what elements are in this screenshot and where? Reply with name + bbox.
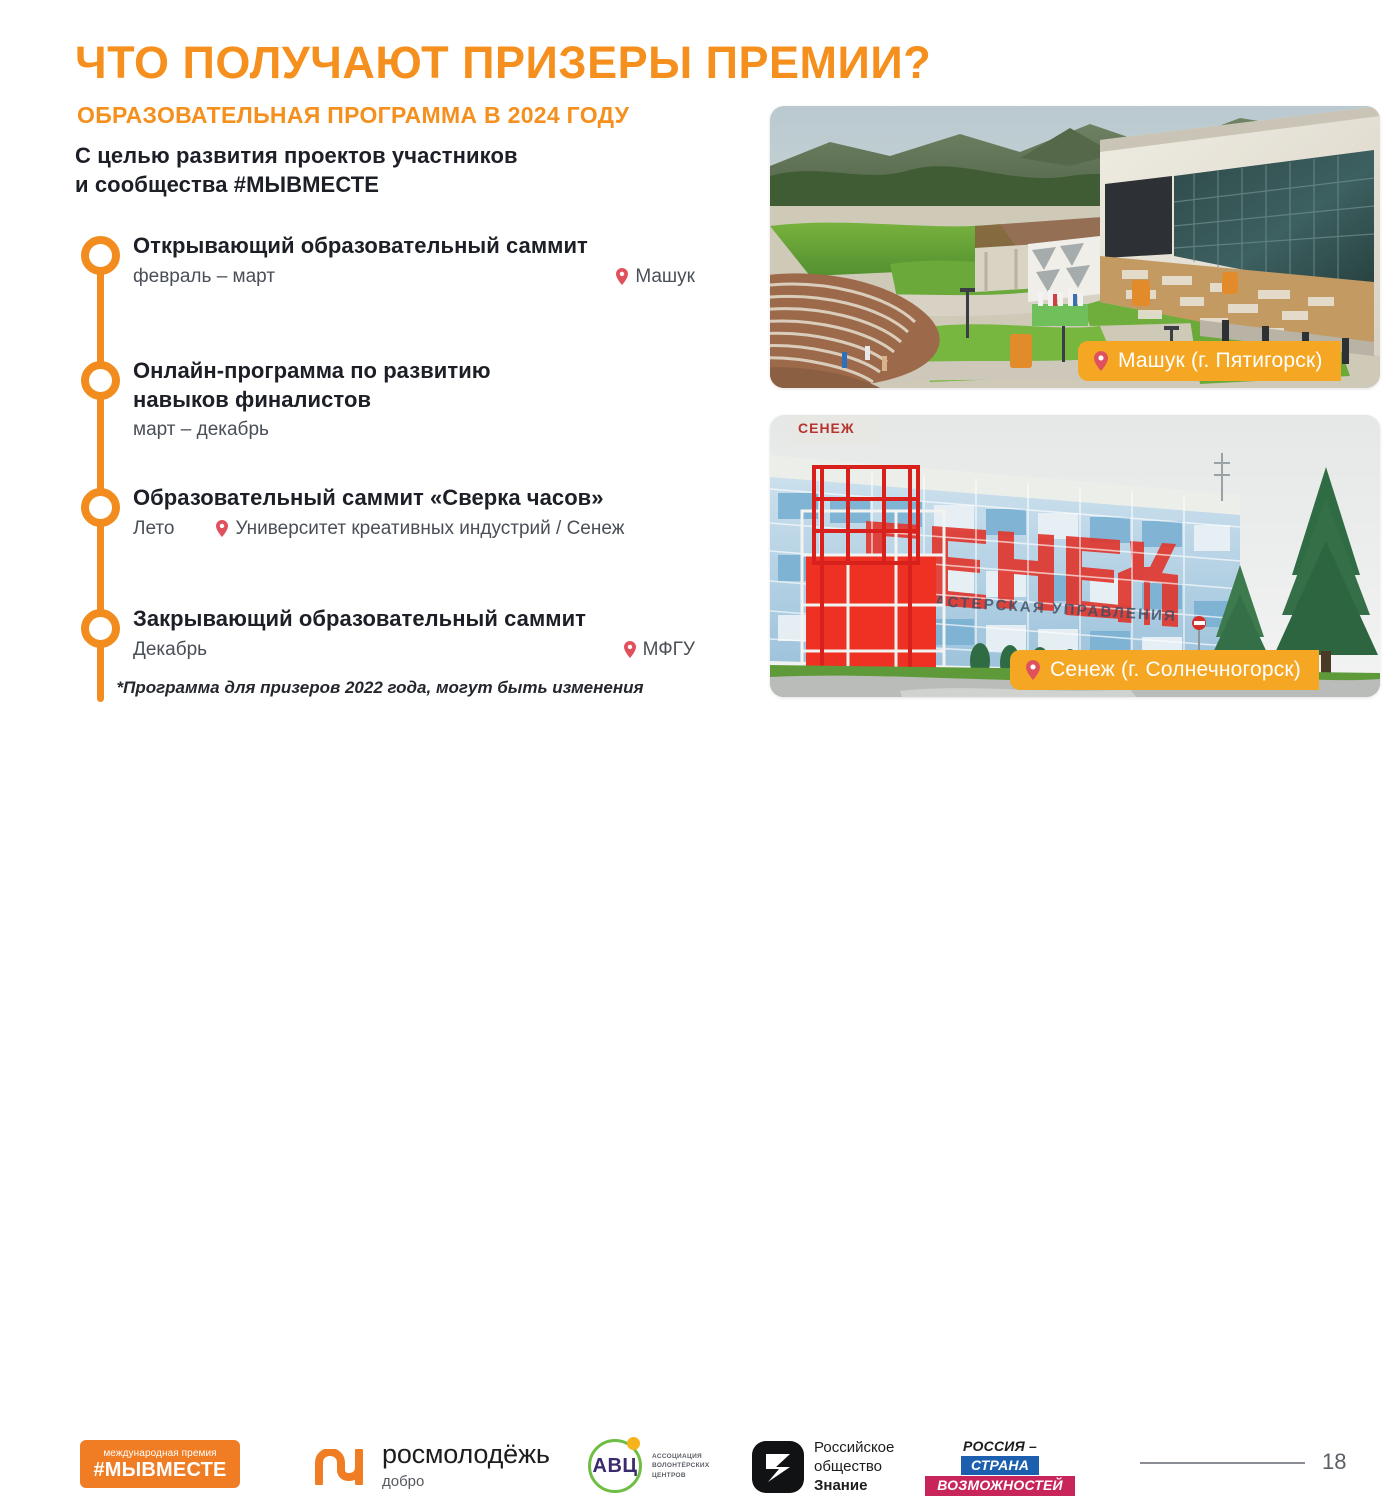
rsv-line-2: СТРАНА [961, 1456, 1039, 1476]
avc-line-1: АССОЦИАЦИЯ [652, 1452, 710, 1461]
avc-full-name: АССОЦИАЦИЯ ВОЛОНТЁРСКИХ ЦЕНТРОВ [652, 1452, 710, 1480]
timeline-item-3-body: Образовательный саммит «Сверка часов» Ле… [133, 484, 695, 540]
rsv-line-1: РОССИЯ – [925, 1438, 1075, 1455]
timeline-item-3-place: Университет креативных индустрий / Сенеж [216, 517, 624, 541]
timeline-marker-icon [81, 609, 120, 648]
timeline-item-2-date: март – декабрь [133, 418, 269, 442]
lead-paragraph: С целью развития проектов участников и с… [75, 142, 518, 199]
logo-myvmeste-line-2: #МЫВМЕСТЕ [93, 1459, 226, 1481]
znanie-line-1: Российское [814, 1438, 894, 1457]
senezh-location-badge: Сенеж (г. Солнечногорск) [1010, 650, 1319, 690]
education-timeline: Открывающий образовательный саммит февра… [75, 236, 695, 706]
timeline-item-2-heading-line-2: навыков финалистов [133, 386, 695, 415]
timeline-item-1-heading: Открывающий образовательный саммит [133, 232, 695, 261]
timeline-item-3-date: Лето [133, 517, 174, 541]
avc-line-3: ЦЕНТРОВ [652, 1471, 710, 1480]
lead-line-1: С целью развития проектов участников [75, 142, 518, 171]
timeline-item-2-meta: март – декабрь [133, 418, 695, 442]
avc-abbr: АВЦ [586, 1437, 644, 1495]
logo-rsv: РОССИЯ – СТРАНА ВОЗМОЖНОСТЕЙ [925, 1438, 1075, 1496]
timeline-item-2-body: Онлайн-программа по развитию навыков фин… [133, 357, 695, 442]
mashuk-location-badge: Машук (г. Пятигорск) [1078, 341, 1341, 381]
avc-line-2: ВОЛОНТЁРСКИХ [652, 1461, 710, 1470]
rosmolodezh-mark-icon [315, 1449, 371, 1485]
location-pin-icon [624, 641, 636, 658]
timeline-marker-icon [81, 236, 120, 275]
logo-rosmolodezh: росмолодёжь добро [315, 1441, 550, 1492]
program-footnote: *Программа для призеров 2022 года, могут… [95, 678, 665, 698]
mashuk-location-label: Машук (г. Пятигорск) [1118, 349, 1323, 373]
page-number-rule [1140, 1462, 1305, 1464]
timeline-item-1-body: Открывающий образовательный саммит февра… [133, 232, 695, 288]
location-pin-icon [616, 268, 628, 285]
znanie-mark-icon [752, 1441, 804, 1493]
location-pin-icon [1094, 351, 1108, 371]
znanie-wordmark: Российское общество Знание [814, 1438, 894, 1496]
logo-myvmeste: международная премия #МЫВМЕСТЕ [80, 1440, 240, 1488]
avc-mark-icon: АВЦ [586, 1437, 644, 1495]
location-pin-icon [216, 520, 228, 537]
slide-root: ЧТО ПОЛУЧАЮТ ПРИЗЕРЫ ПРЕМИИ? ОБРАЗОВАТЕЛ… [0, 0, 1400, 788]
rosmolodezh-wordmark: росмолодёжь добро [382, 1441, 550, 1492]
timeline-item-4-place: МФГУ [624, 638, 695, 662]
timeline-item-4-meta: Декабрь МФГУ [133, 638, 695, 662]
timeline-marker-icon [81, 361, 120, 400]
svg-text:СЕНЕЖ: СЕНЕЖ [798, 420, 855, 436]
timeline-item-4-body: Закрывающий образовательный саммит Декаб… [133, 605, 695, 661]
timeline-item-2-heading-line-1: Онлайн-программа по развитию [133, 357, 695, 386]
timeline-item-1-date: февраль – март [133, 265, 275, 289]
logo-avc: АВЦ АССОЦИАЦИЯ ВОЛОНТЁРСКИХ ЦЕНТРОВ [586, 1437, 710, 1495]
footer-logos: международная премия #МЫВМЕСТЕ росмолодё… [0, 714, 1400, 788]
page-title: ЧТО ПОЛУЧАЮТ ПРИЗЕРЫ ПРЕМИИ? [75, 40, 931, 85]
timeline-item-1-place: Машук [616, 265, 695, 289]
timeline-item-1-place-label: Машук [635, 265, 695, 289]
page-number: 18 [1322, 1449, 1346, 1475]
timeline-item-1-meta: февраль – март Машук [133, 265, 695, 289]
timeline-item-3-place-label: Университет креативных индустрий / Сенеж [235, 517, 624, 541]
senezh-location-label: Сенеж (г. Солнечногорск) [1050, 658, 1301, 682]
timeline-item-3-heading: Образовательный саммит «Сверка часов» [133, 484, 695, 513]
lead-line-2: и сообщества #МЫВМЕСТЕ [75, 171, 518, 200]
location-pin-icon [1026, 660, 1040, 680]
znanie-line-2: общество [814, 1457, 894, 1476]
znanie-line-3: Знание [814, 1476, 894, 1495]
logo-znanie: Российское общество Знание [752, 1438, 894, 1496]
rsv-line-3: ВОЗМОЖНОСТЕЙ [925, 1476, 1075, 1496]
timeline-item-4-date: Декабрь [133, 638, 207, 662]
rosmolodezh-name: росмолодёжь [382, 1441, 550, 1468]
logo-myvmeste-line-1: международная премия [103, 1448, 216, 1459]
page-subtitle: ОБРАЗОВАТЕЛЬНАЯ ПРОГРАММА В 2024 ГОДУ [77, 104, 629, 127]
timeline-item-4-heading: Закрывающий образовательный саммит [133, 605, 695, 634]
rosmolodezh-sub: добро [382, 1471, 550, 1492]
rsv-line-2-wrap: СТРАНА [925, 1456, 1075, 1476]
timeline-item-4-place-label: МФГУ [643, 638, 695, 662]
timeline-marker-icon [81, 488, 120, 527]
timeline-item-3-meta: Лето Университет креативных индустрий / … [133, 517, 695, 541]
